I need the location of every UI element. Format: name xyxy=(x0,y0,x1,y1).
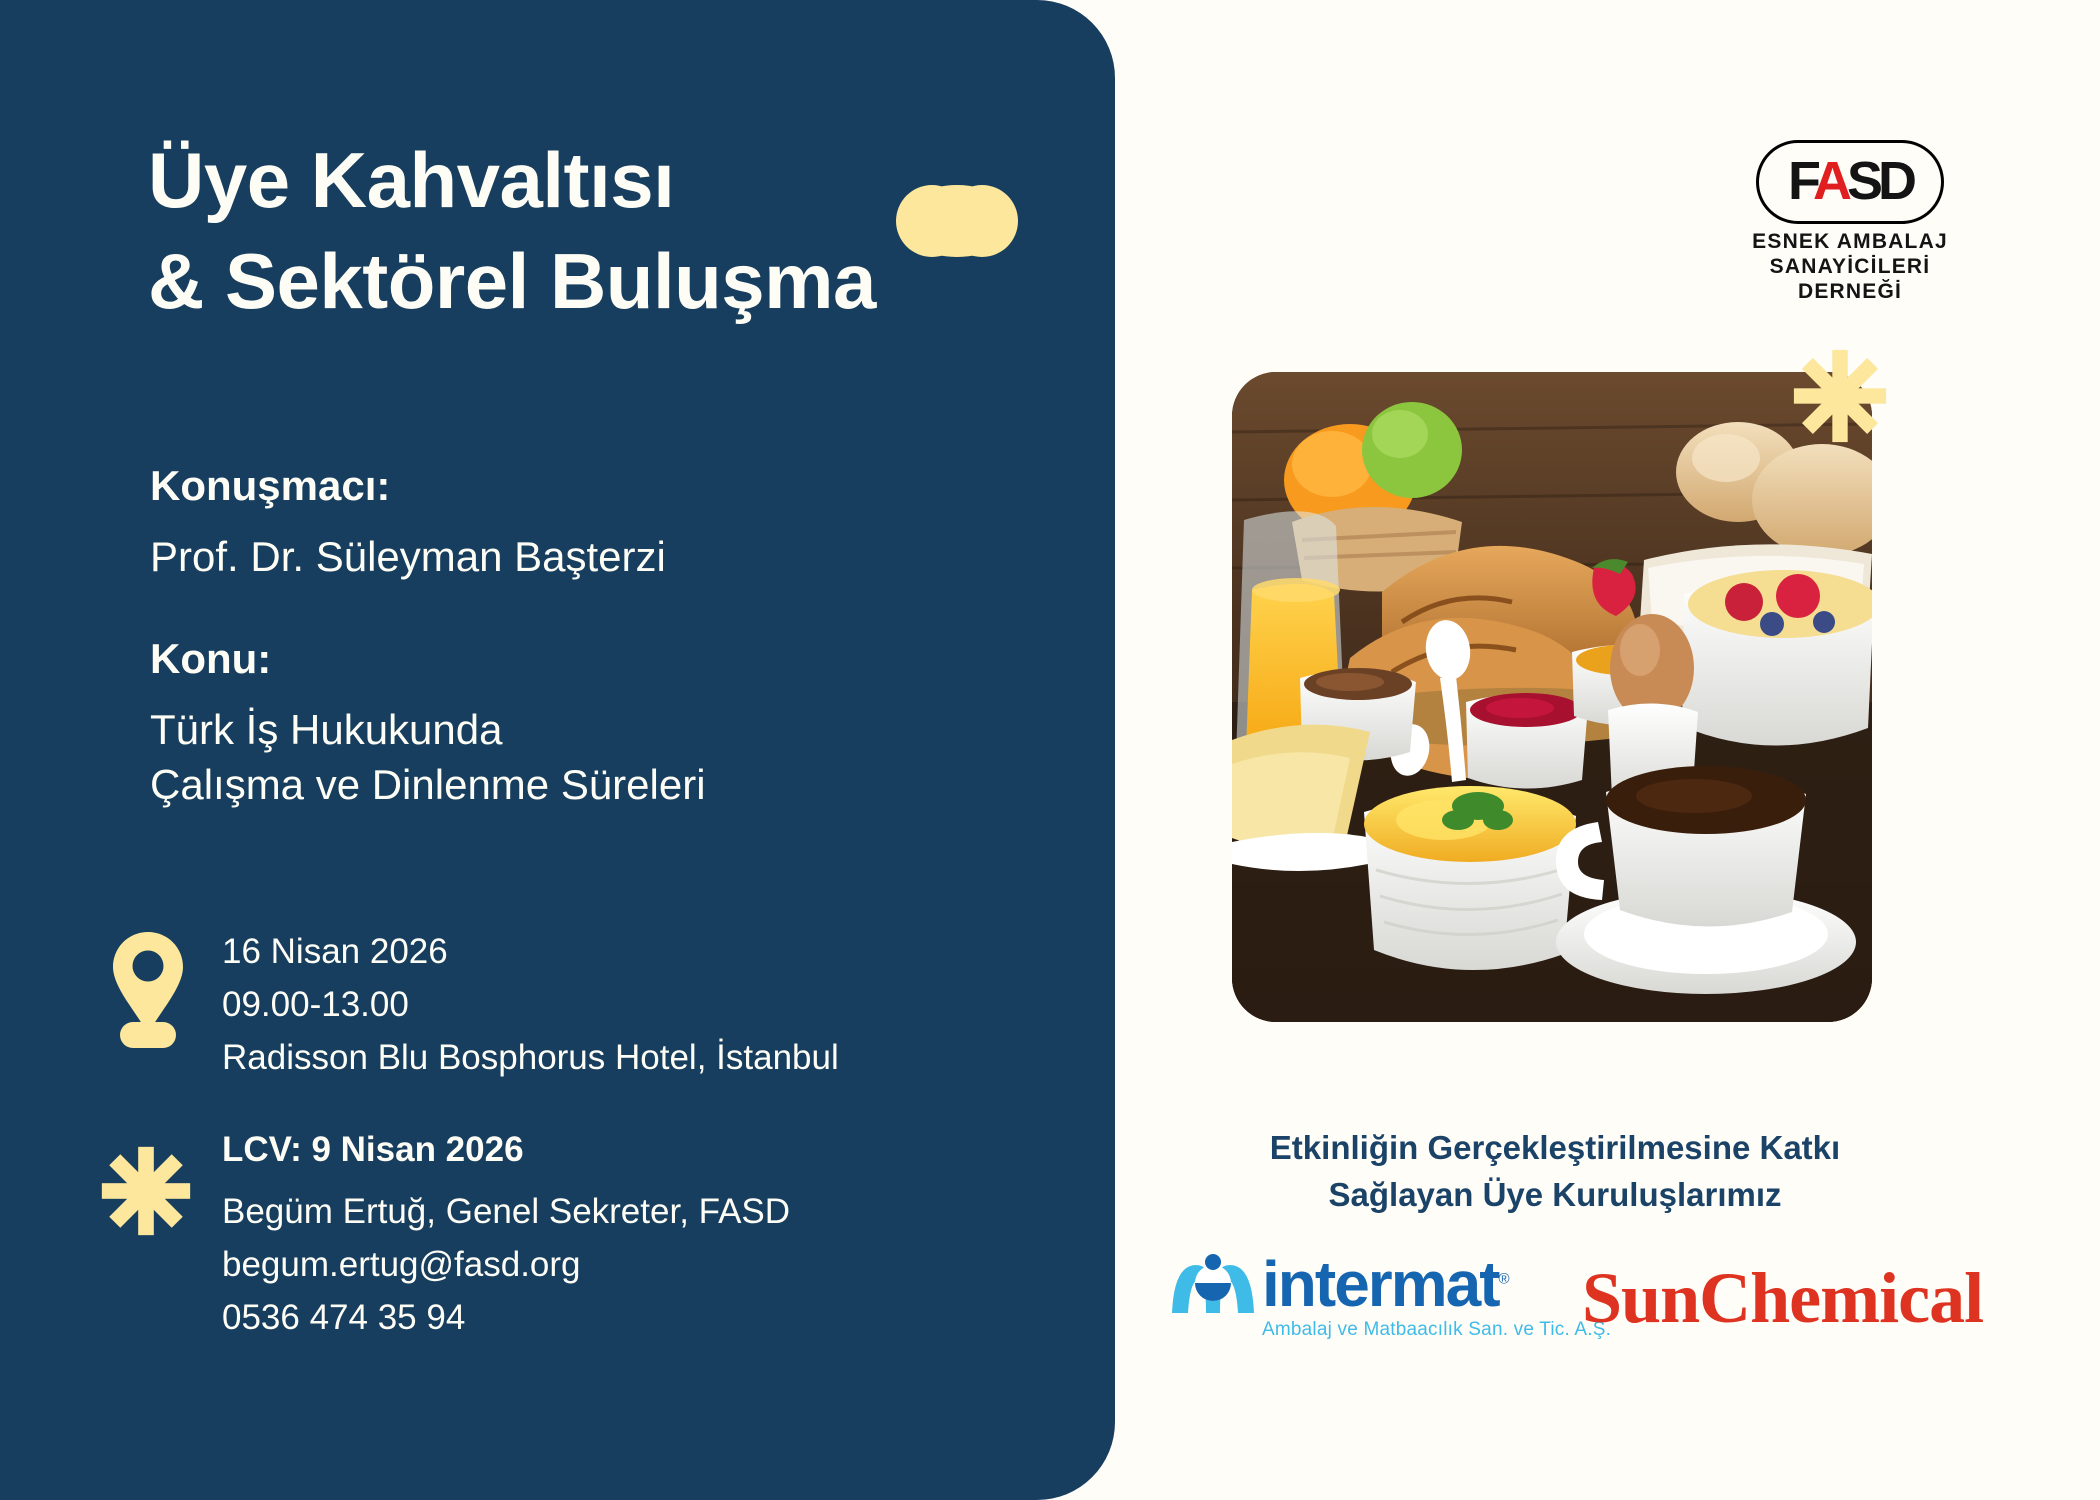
decorative-blob-shape xyxy=(898,185,1016,257)
intermat-wordmark: intermat® xyxy=(1262,1252,1508,1316)
fasd-letter-f: F xyxy=(1788,151,1813,211)
sponsor-logo-sunchemical: SunChemical xyxy=(1582,1262,1983,1334)
sparkle-asterisk-icon xyxy=(100,1145,192,1237)
speaker-label: Konuşmacı: xyxy=(150,462,390,510)
event-details: 16 Nisan 2026 09.00-13.00 Radisson Blu B… xyxy=(222,925,839,1085)
rsvp-deadline: LCV: 9 Nisan 2026 xyxy=(222,1130,524,1170)
sponsors-heading-line-1: Etkinliğin Gerçekleştirilmesine Katkı xyxy=(1150,1125,1960,1172)
event-time: 09.00-13.00 xyxy=(222,978,839,1031)
rsvp-phone[interactable]: 0536 474 35 94 xyxy=(222,1291,790,1344)
fasd-letter-a: A xyxy=(1813,151,1847,211)
event-date: 16 Nisan 2026 xyxy=(222,925,839,978)
fasd-wordmark: FASD xyxy=(1759,154,1941,208)
rsvp-email[interactable]: begum.ertug@fasd.org xyxy=(222,1238,790,1291)
sponsor-logo-intermat: intermat® Ambalaj ve Matbaacılık San. ve… xyxy=(1170,1252,1540,1341)
fasd-subtitle: ESNEK AMBALAJ SANAYİCİLERİ DERNEĞİ xyxy=(1735,230,1965,304)
intermat-tagline: Ambalaj ve Matbaacılık San. ve Tic. A.Ş. xyxy=(1262,1319,1540,1341)
event-venue: Radisson Blu Bosphorus Hotel, İstanbul xyxy=(222,1031,839,1084)
fasd-logo-mark: FASD xyxy=(1756,140,1944,224)
intermat-mark-icon xyxy=(1170,1253,1256,1315)
speaker-name: Prof. Dr. Süleyman Başterzi xyxy=(150,530,666,585)
topic-text: Türk İş Hukukunda Çalışma ve Dinlenme Sü… xyxy=(150,703,706,812)
location-pin-icon xyxy=(112,930,184,1048)
fasd-letters-sd: SD xyxy=(1847,151,1912,211)
rsvp-contact-block: Begüm Ertuğ, Genel Sekreter, FASD begum.… xyxy=(222,1185,790,1345)
topic-line-1: Türk İş Hukukunda xyxy=(150,703,706,758)
rsvp-contact-name: Begüm Ertuğ, Genel Sekreter, FASD xyxy=(222,1185,790,1238)
breakfast-spread-photo xyxy=(1232,372,1872,1022)
fasd-subtitle-line-2: SANAYİCİLERİ DERNEĞİ xyxy=(1735,255,1965,305)
fasd-subtitle-line-1: ESNEK AMBALAJ xyxy=(1735,230,1965,255)
topic-label: Konu: xyxy=(150,635,271,683)
intermat-wordmark-text: intermat xyxy=(1262,1248,1499,1320)
sponsors-heading-line-2: Sağlayan Üye Kuruluşlarımız xyxy=(1150,1172,1960,1219)
topic-line-2: Çalışma ve Dinlenme Süreleri xyxy=(150,758,706,813)
sponsors-heading: Etkinliğin Gerçekleştirilmesine Katkı Sa… xyxy=(1150,1125,1960,1219)
intermat-trademark: ® xyxy=(1499,1271,1508,1288)
sparkle-asterisk-icon xyxy=(1792,348,1888,444)
event-poster: Üye Kahvaltısı & Sektörel Buluşma Konuşm… xyxy=(0,0,2100,1500)
fasd-logo: FASD ESNEK AMBALAJ SANAYİCİLERİ DERNEĞİ xyxy=(1735,140,1965,304)
